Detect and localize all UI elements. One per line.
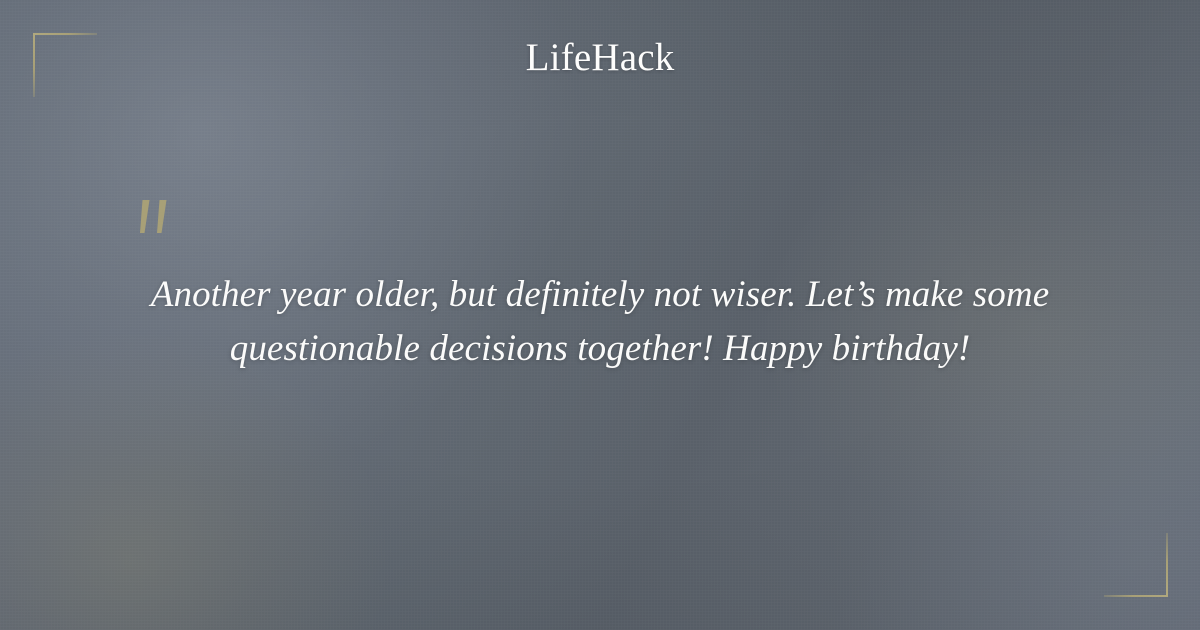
bracket-arm-horizontal: [33, 33, 97, 35]
quote-line-1: Another year older, but definitely not w…: [151, 274, 1049, 315]
double-prime-quote-icon: [128, 186, 190, 250]
bracket-arm-vertical: [1166, 533, 1168, 597]
quote-card: LifeHack Another year older, but definit…: [0, 0, 1200, 630]
quote-line-2: questionable decisions together! Happy b…: [230, 328, 971, 369]
bracket-arm-horizontal: [1104, 595, 1168, 597]
brand-logo: LifeHack: [0, 38, 1200, 77]
corner-bracket-bottom-right-icon: [1104, 533, 1168, 597]
quote-text: Another year older, but definitely not w…: [80, 268, 1120, 376]
